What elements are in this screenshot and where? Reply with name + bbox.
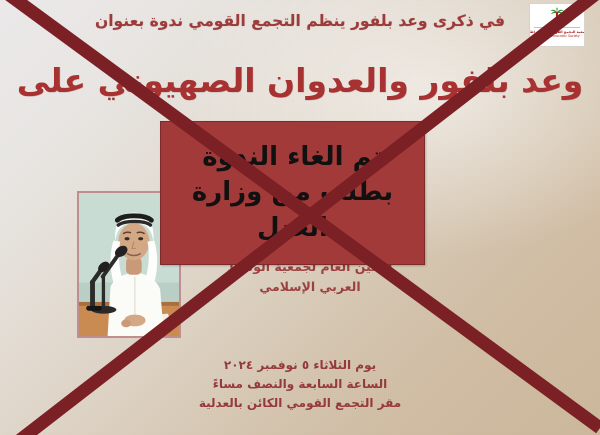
- palm-tree-icon: [546, 7, 568, 26]
- cancellation-line-2: بطلب من وزارة: [192, 176, 393, 209]
- event-details: يوم الثلاثاء ٥ نوفمبر ٢٠٢٤ الساعة السابع…: [120, 356, 480, 414]
- event-poster: في ذكرى وعد بلفور ينظم التجمع القومي ندو…: [0, 0, 600, 435]
- logo-divider: [534, 27, 580, 28]
- cancellation-line-3: العدل: [257, 212, 328, 245]
- event-venue: مقر التجمع القومي الكائن بالعدلية: [120, 394, 480, 413]
- poster-main-title: وعد بلفور والعدوان الصهيوني على: [6, 62, 594, 101]
- poster-header-text: في ذكرى وعد بلفور ينظم التجمع القومي ندو…: [78, 12, 522, 31]
- organization-logo: جمعية التجمع القومي الديمقراطي National …: [529, 3, 585, 47]
- cancellation-line-1: تم الغاء الندوة: [202, 141, 382, 174]
- speaker-affiliation: العربي الإسلامي: [140, 277, 480, 296]
- logo-latin-text: National Democratic Society: [534, 35, 579, 39]
- cancellation-notice: تم الغاء الندوة بطلب من وزارة العدل: [160, 121, 425, 265]
- event-date: يوم الثلاثاء ٥ نوفمبر ٢٠٢٤: [120, 356, 480, 375]
- event-time: الساعة السابعة والنصف مساءً: [120, 375, 480, 394]
